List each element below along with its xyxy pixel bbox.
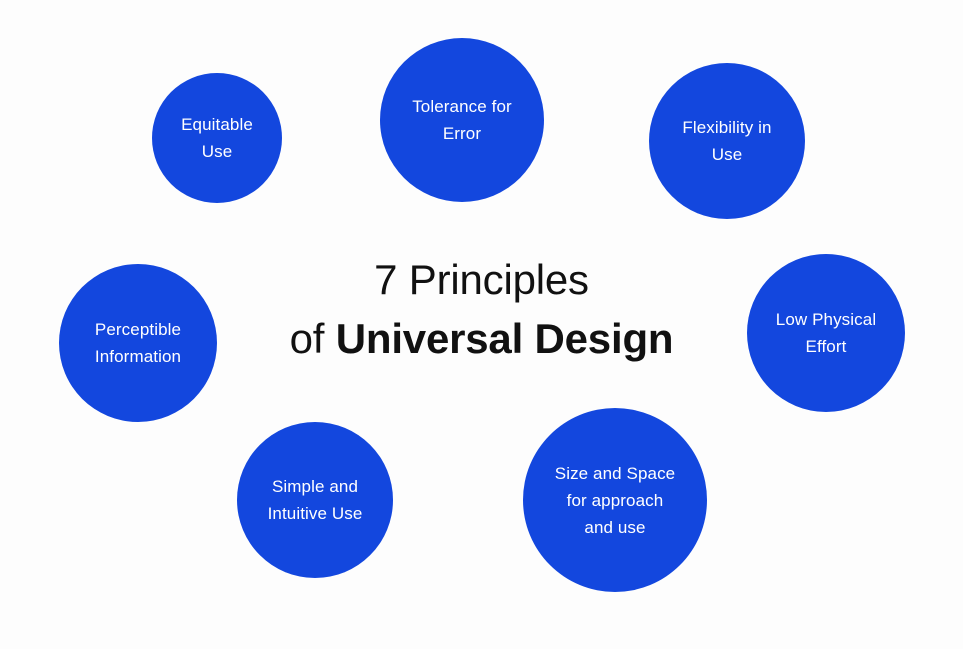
principle-bubble-size-and-space[interactable]: Size and Space for approach and use bbox=[523, 408, 707, 592]
principle-label: Equitable Use bbox=[173, 111, 261, 165]
principle-bubble-flexibility-in-use[interactable]: Flexibility in Use bbox=[649, 63, 805, 219]
principle-bubble-perceptible-information[interactable]: Perceptible Information bbox=[59, 264, 217, 422]
principle-label: Perceptible Information bbox=[87, 316, 189, 370]
principle-bubble-simple-and-intuitive-use[interactable]: Simple and Intuitive Use bbox=[237, 422, 393, 578]
principle-label: Tolerance for Error bbox=[404, 93, 520, 147]
principle-label: Low Physical Effort bbox=[768, 306, 884, 360]
infographic-canvas: 7 Principles of Universal Design Equitab… bbox=[0, 0, 963, 649]
title-emphasis: Universal Design bbox=[336, 315, 674, 362]
principle-bubble-tolerance-for-error[interactable]: Tolerance for Error bbox=[380, 38, 544, 202]
principle-bubble-low-physical-effort[interactable]: Low Physical Effort bbox=[747, 254, 905, 412]
principle-label: Flexibility in Use bbox=[674, 114, 779, 168]
principle-label: Simple and Intuitive Use bbox=[260, 473, 371, 527]
principle-label: Size and Space for approach and use bbox=[547, 460, 683, 541]
principle-bubble-equitable-use[interactable]: Equitable Use bbox=[152, 73, 282, 203]
title-prefix: of bbox=[290, 315, 336, 362]
